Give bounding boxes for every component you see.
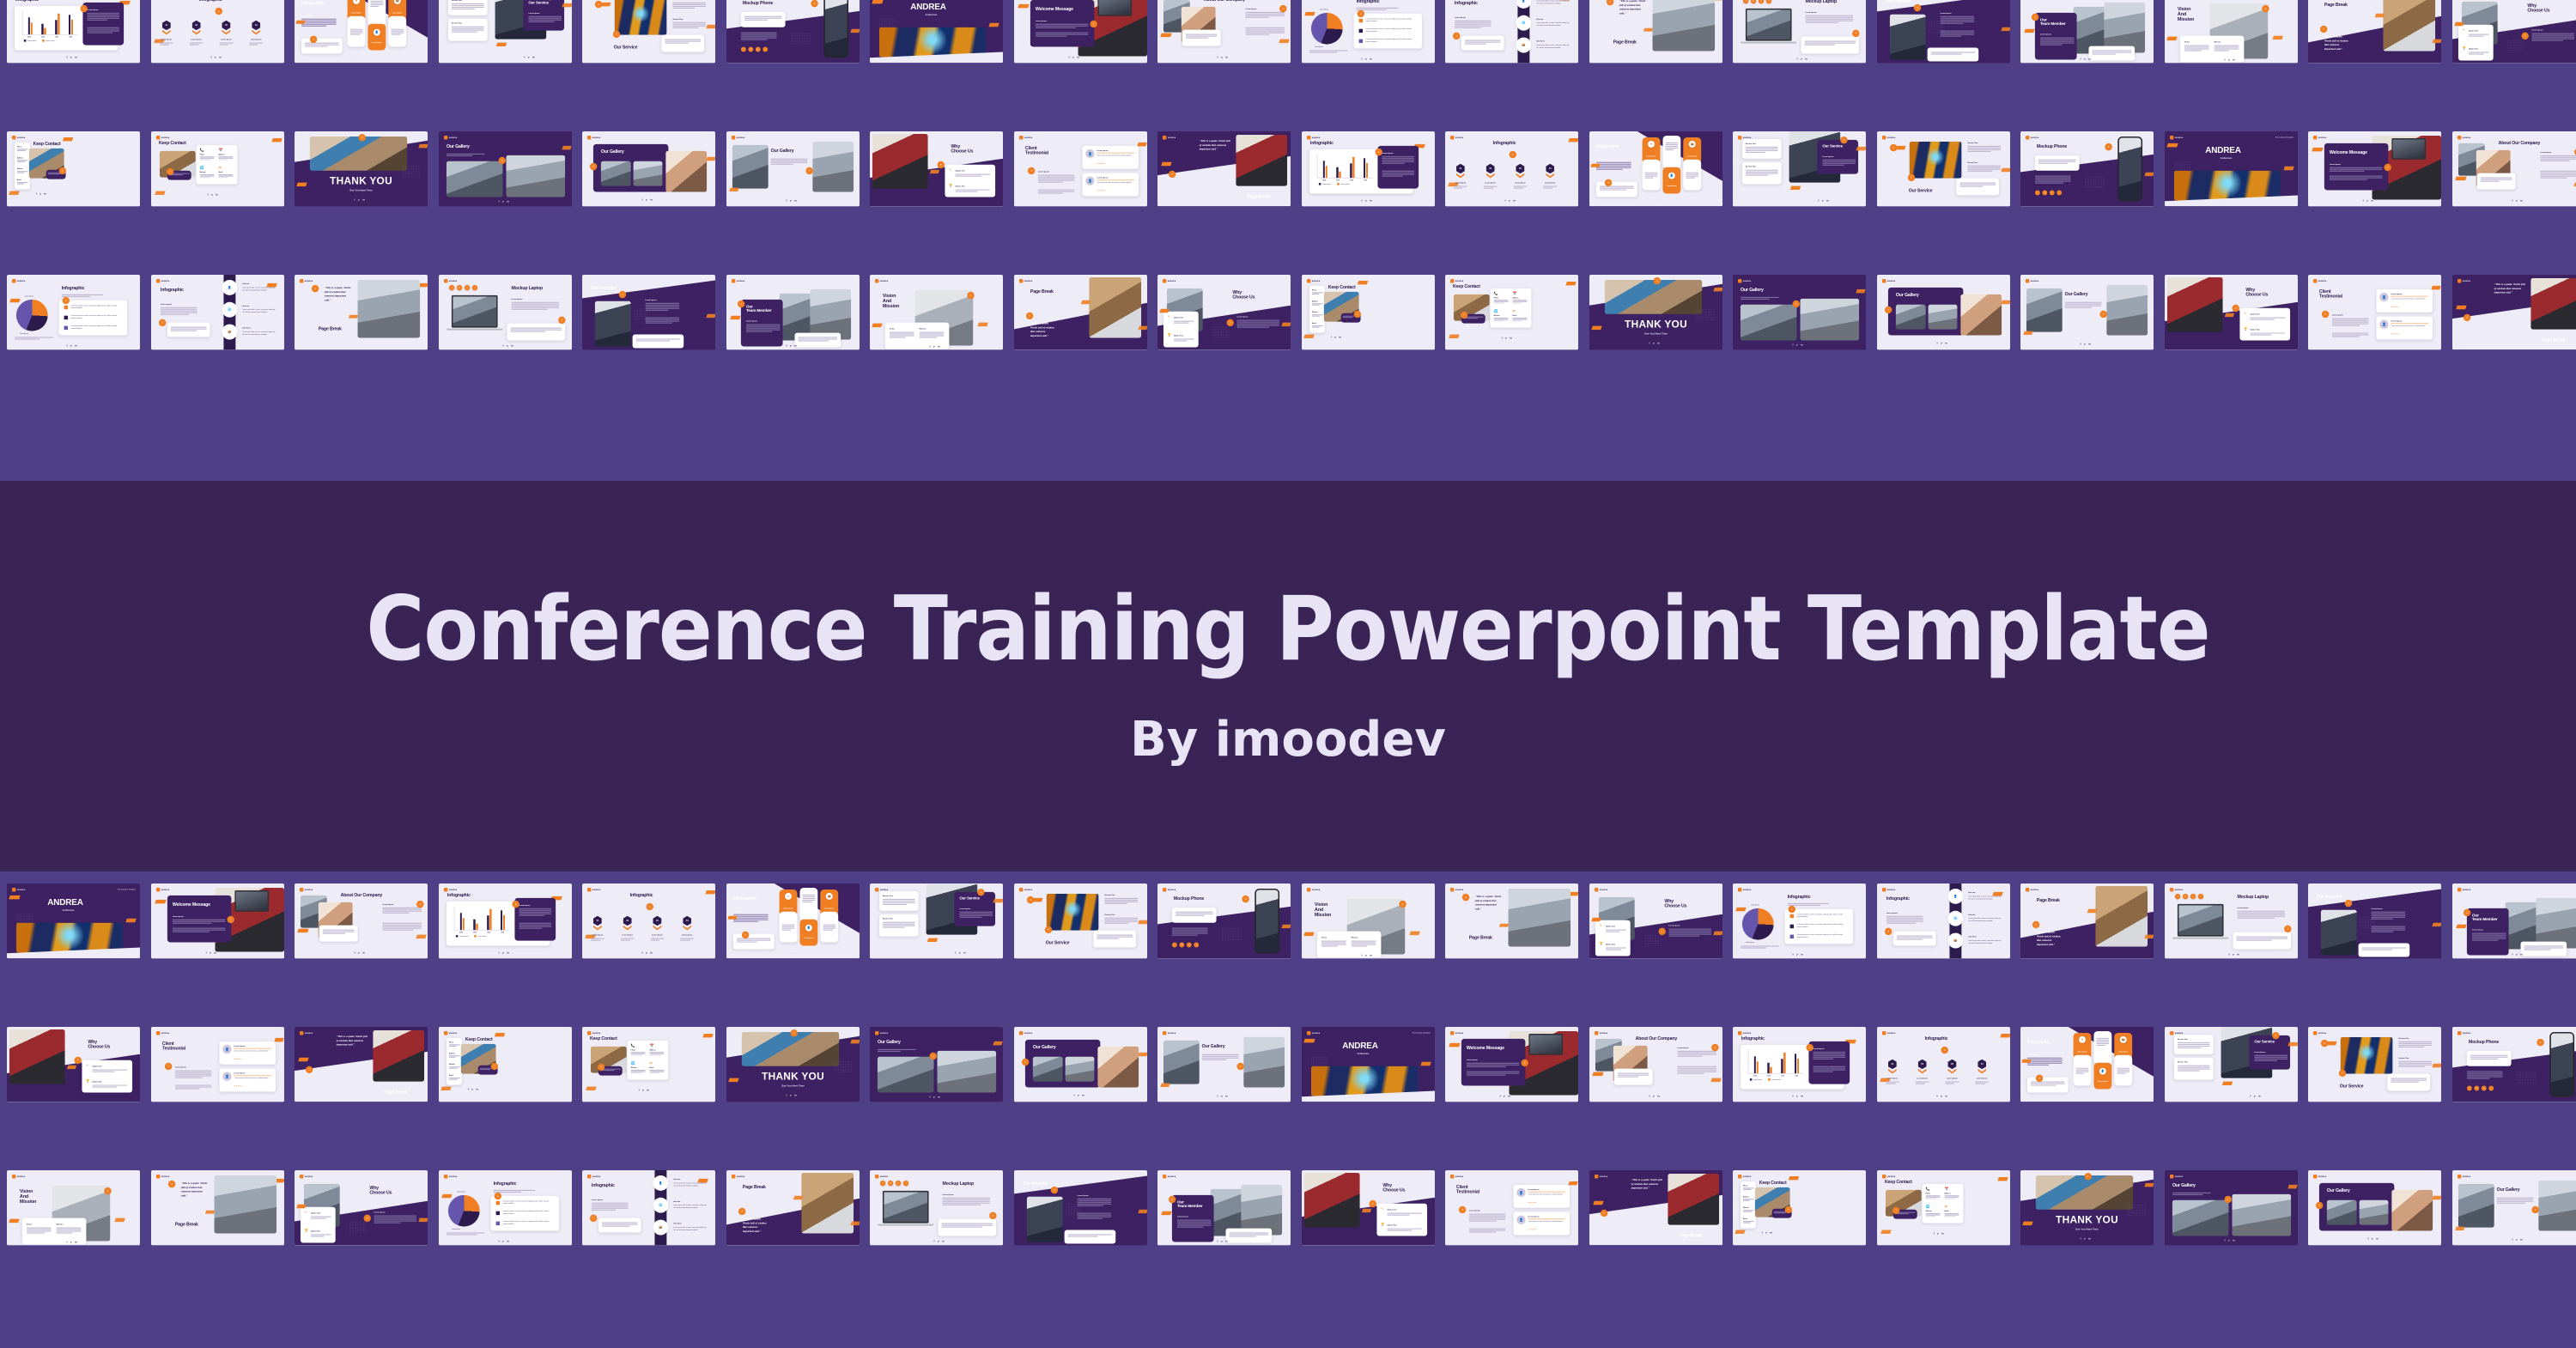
social-links[interactable]: fyin [205,951,216,954]
social-icon[interactable]: f [1505,199,1506,202]
slide-thumbnail[interactable]: ANDREA WhyChoose Us ✎ Option One 🏆 Optio… [7,1027,140,1102]
slide-thank-you[interactable]: ANDREA THANK YOU See You Next Time ‹ fyi… [726,1027,860,1102]
social-icon[interactable]: in [963,951,966,954]
slide-thumbnail[interactable]: ANDREA Welcome Message Lorem Ipsum › fyi… [151,883,284,959]
social-icon[interactable]: i [903,1181,908,1186]
next-arrow-icon[interactable]: › [167,1181,174,1187]
social-icon-row[interactable]: finyi [2035,191,2062,196]
slide-keep-contact-a[interactable]: ANDREA Keep Contact Phone Address Websit… [1733,1170,1866,1245]
social-icon[interactable]: in [2088,343,2091,345]
social-icon[interactable]: f [955,951,956,954]
slide-infographic-steps[interactable]: ANDREA Infographic › 01 Lorem Ipsum 02 L… [582,883,715,958]
social-links[interactable]: fyin [2081,58,2091,60]
slide-thumbnail[interactable]: ANDREA Keep Contact 📞 Phone 📅 Address 🌐 … [582,1027,715,1102]
social-icon-row[interactable]: finyi [1743,0,1771,3]
slide-thumbnail[interactable]: ANDREA Mockup Phone › finyi fyin [726,0,860,64]
next-arrow-icon[interactable]: › [63,297,70,304]
social-icon[interactable]: f [2174,894,2179,899]
social-icon[interactable]: in [794,951,797,954]
slide-welcome-message[interactable]: ANDREA Welcome Message Lorem Ipsum › fyi… [1014,0,1147,63]
social-links[interactable]: fyin [498,200,508,203]
social-links[interactable]: fyin [467,1089,477,1091]
social-links[interactable]: fyin [207,194,217,197]
social-icon[interactable]: in [1657,342,1660,344]
social-links[interactable]: fyin [1933,1233,1943,1236]
social-icon[interactable]: y [70,951,71,954]
social-links[interactable]: fyin [639,1090,649,1092]
next-arrow-icon[interactable]: › [930,1053,937,1060]
next-arrow-icon[interactable]: › [104,1187,111,1194]
next-arrow-icon[interactable]: › [1453,33,1460,39]
social-icon[interactable]: y [2084,1095,2086,1097]
slide-thumbnail[interactable]: ANDREA Welcome Message Lorem Ipsum › fyi… [1445,1027,1578,1102]
slide-thumbnail[interactable]: ANDREA Our Gallery › fyin [2020,275,2154,350]
slide-page-break-image[interactable]: ANDREA Page Break "This is a quote. Word… [2020,883,2154,958]
social-icon[interactable]: in [2042,191,2047,196]
slide-thumbnail[interactable]: ANDREA OurTeam Member Lorem Ipsum › fyin [2020,0,2154,64]
social-links[interactable]: fyin [1218,1095,1228,1097]
social-icon[interactable]: y [1221,1095,1223,1097]
social-icon[interactable]: y [2228,58,2230,61]
slide-client-testimonial[interactable]: ANDREA ClientTestimonial Lorem Ipsum › 👤… [2308,275,2441,349]
slide-thumbnail[interactable]: ANDREA Our Gallery › fyin [1877,275,2010,350]
social-icon[interactable]: in [1770,1232,1772,1235]
next-arrow-icon[interactable]: › [1279,5,1286,12]
social-links[interactable]: fyin [1360,1095,1370,1097]
next-arrow-icon[interactable]: › [1521,1060,1528,1066]
social-links[interactable]: fyin [1068,56,1078,58]
slide-thumbnail[interactable]: ANDREA Our Gallery › fyin [1733,275,1866,350]
next-arrow-icon[interactable]: › [738,1208,744,1215]
slide-thumbnail[interactable]: ANDREA Service One Service Two Our Servi… [1733,131,1866,207]
social-links[interactable]: fyin [2512,953,2522,956]
social-icon[interactable]: y [642,1090,644,1092]
social-icon[interactable]: y [39,193,41,196]
social-icon[interactable]: y [358,198,360,201]
slide-infographic-icons[interactable]: ANDREA Infographic Lorem Ipsum › 👤 Info … [1877,883,2010,958]
social-icon[interactable]: y [1509,199,1510,202]
slide-mockup-laptop[interactable]: ANDREA Mockup Laptop finyi Lorem Ipsum ›… [870,1170,1003,1245]
social-icon[interactable]: f [934,1240,935,1242]
social-icon[interactable]: in [2114,200,2117,203]
slide-thumbnail[interactable]: ANDREA Infographic Lorem Ipsum › ♥ Lorem… [295,0,428,64]
next-arrow-icon[interactable]: › [2272,1032,2279,1039]
social-icon[interactable]: f [930,345,931,348]
social-icon[interactable]: y [755,47,760,52]
slide-thumbnail[interactable]: ANDREA THANK YOU See You Next Time ‹ fyi… [295,131,428,207]
social-links[interactable]: fyin [2081,343,2091,345]
social-icon[interactable]: in [2233,58,2235,61]
social-links[interactable]: fyin [786,344,796,347]
slide-about-company[interactable]: ANDREA About Our Company Lorem Ipsum › f… [2452,131,2576,206]
social-icon[interactable]: in [507,1240,509,1242]
social-links[interactable]: fyin [2512,199,2522,202]
slide-infographic-pie[interactable]: ANDREA Infographic Lorem Ipsum Lorem Ips… [439,1170,572,1245]
slide-thumbnail[interactable]: ANDREA Our Gallery › fyin [1014,1027,1147,1102]
social-links[interactable]: fyin [36,193,46,196]
slide-thumbnail[interactable]: ANDREA WhyChoose Us Lorem Ipsum ✎ Option… [1157,275,1291,350]
next-arrow-icon[interactable]: › [227,916,234,923]
next-arrow-icon[interactable]: › [2322,311,2329,318]
social-icon[interactable]: f [1502,337,1503,340]
social-icon[interactable]: i [471,285,477,290]
social-icon[interactable]: f [786,199,787,202]
social-icon[interactable]: f [2363,199,2364,202]
social-links[interactable]: fyin [2224,1239,2234,1242]
next-arrow-icon[interactable]: › [2232,305,2239,312]
social-links[interactable]: fyin [355,198,365,201]
next-arrow-icon[interactable]: › [1711,1044,1718,1051]
next-arrow-icon[interactable]: › [2099,311,2106,318]
next-arrow-icon[interactable]: › [512,901,519,908]
social-icon[interactable]: f [67,1241,68,1243]
social-icon[interactable]: f [880,1181,885,1186]
slide-thank-you[interactable]: ANDREA THANK YOU See You Next Time ‹ fyi… [1589,275,1722,349]
social-links[interactable]: fyin [1762,1232,1772,1235]
social-icon[interactable]: in [476,1089,478,1091]
social-links[interactable]: fyin [930,1096,940,1098]
next-arrow-icon[interactable]: › [1169,171,1176,178]
slide-thumbnail[interactable]: ANDREA Infographic Lorem Ipsum › 👤 Info … [582,1170,715,1246]
next-arrow-icon[interactable]: › [805,167,812,174]
slide-thumbnail[interactable]: ANDREA Welcome Message Lorem Ipsum › fyi… [1014,0,1147,64]
social-icon[interactable]: in [2088,1237,2091,1240]
slide-thumbnail[interactable]: ANDREA Service One Service Two Our Servi… [439,0,572,64]
next-arrow-icon[interactable]: › [416,901,423,908]
social-icon[interactable]: y [1365,58,1367,60]
social-icon[interactable]: in [1225,56,1228,58]
social-links[interactable]: fyin [786,951,796,954]
slide-thumbnail[interactable]: ANDREA Presentation Template ANDREA Conf… [1302,1027,1435,1102]
social-links[interactable]: fyin [524,56,534,58]
social-icon[interactable]: in [2520,1238,2523,1241]
social-icon[interactable]: y [70,344,72,347]
social-icon[interactable]: in [1369,1095,1371,1097]
social-icon[interactable]: y [1187,943,1192,948]
social-icon[interactable]: y [1505,337,1507,340]
social-icon[interactable]: in [2545,1096,2548,1098]
slide-thumbnail[interactable]: ANDREA Our Gallery › fyin [439,131,572,207]
social-icon[interactable]: f [355,951,355,954]
next-arrow-icon[interactable]: › [306,1066,313,1073]
social-icon[interactable]: in [216,194,218,197]
slide-team-member[interactable]: ANDREA OurTeam Member Lorem Ipsum › fyin [2452,883,2576,958]
social-icon[interactable]: y [2227,199,2229,202]
slide-thumbnail[interactable]: ANDREA OurTeam Member Lorem Ipsum › fyin [1157,1170,1291,1246]
next-arrow-icon[interactable]: › [1090,21,1097,27]
slide-thumbnail[interactable]: ANDREA Keep Contact 📞 Phone 📅 Address 🌐 … [151,131,284,207]
social-icon[interactable]: f [66,951,67,954]
slide-thumbnail[interactable]: ANDREA Service One Service Two Our Servi… [2165,1027,2298,1102]
next-arrow-icon[interactable]: › [989,1212,996,1219]
social-links[interactable]: fyin [355,951,365,954]
slide-thumbnail[interactable]: ANDREA ClientTestimonial Lorem Ipsum › 👤… [1014,131,1147,207]
social-icon[interactable]: in [1657,199,1660,202]
social-icon[interactable]: f [2512,953,2512,956]
slide-why-choose-us-b[interactable]: ANDREA WhyChoose Us ✎ Option One 🏆 Optio… [870,131,1003,206]
social-icon[interactable]: in [362,951,365,954]
slide-infographic-icons[interactable]: ANDREA Infographic Lorem Ipsum › 👤 Info … [1445,0,1578,63]
slide-client-testimonial[interactable]: ANDREA ClientTestimonial Lorem Ipsum › 👤… [151,1027,284,1102]
social-icon[interactable]: y [1937,1233,1939,1236]
slide-our-gallery-c[interactable]: ANDREA Our Gallery › fyin [726,131,860,206]
social-icon[interactable]: f [1649,199,1649,202]
social-icon[interactable]: y [1365,954,1367,956]
social-icon[interactable]: f [786,344,787,347]
social-icon[interactable]: f [498,200,499,203]
social-icon[interactable]: f [1793,953,1794,956]
slide-infographic-bar[interactable]: ANDREA Infographic 2018201920202021 Lore… [1302,131,1435,206]
slide-thumbnail[interactable]: ANDREA Keep Contact 📞 Phone 📅 Address 🌐 … [1445,275,1578,350]
social-icon[interactable]: in [44,193,46,196]
social-icon[interactable]: in [214,951,216,954]
next-arrow-icon[interactable]: › [1462,894,1469,901]
social-icon[interactable]: y [2372,1237,2373,1240]
slide-thumbnail[interactable]: ANDREA "This is a quote. Words full of w… [1589,0,1722,64]
social-icon[interactable]: f [2250,1095,2251,1097]
next-arrow-icon[interactable]: › [977,889,984,896]
slide-our-gallery-b[interactable]: ANDREA Our Gallery › fyin [2308,1170,2441,1245]
social-icon[interactable]: y [933,56,934,58]
social-icon[interactable]: y [2110,200,2111,203]
social-icon[interactable]: y [2481,1086,2486,1091]
slide-the-founder[interactable]: ANDREA The Founder Lorem Ipsum › [582,275,715,349]
social-links[interactable]: fyin [66,951,76,954]
slide-infographic-icons[interactable]: ANDREA Infographic Lorem Ipsum › 👤 Info … [151,275,284,349]
slide-welcome-message[interactable]: ANDREA Welcome Message Lorem Ipsum › fyi… [2308,131,2441,206]
slide-our-service-photo[interactable]: ANDREA Service One Service Two Our Servi… [582,0,715,63]
slide-thumbnail[interactable]: ANDREA Presentation Template ANDREA Conf… [870,0,1003,64]
social-icon[interactable]: in [748,47,753,52]
social-icon[interactable]: y [938,1240,939,1242]
slide-keep-contact-a[interactable]: ANDREA Keep Contact Phone Address Websit… [1302,275,1435,349]
slide-mockup-laptop[interactable]: ANDREA Mockup Laptop finyi Lorem Ipsum ›… [439,275,572,349]
slide-andrea-title[interactable]: ANDREA Presentation Template ANDREA Conf… [1302,1027,1435,1102]
social-links[interactable]: fyin [955,951,965,954]
slide-thumbnail[interactable]: ANDREA WhyChoose Us ✎ Option One 🏆 Optio… [870,131,1003,207]
slide-about-company[interactable]: ANDREA About Our Company Lorem Ipsum › f… [1157,0,1291,63]
slide-thumbnail[interactable]: ANDREA Mockup Phone › finyi fyin [2020,131,2154,207]
social-icon[interactable]: y [1822,199,1824,202]
slide-thumbnail[interactable]: ANDREA VisionAndMission Vision Mission ›… [7,1170,140,1246]
slide-keep-contact-b[interactable]: ANDREA Keep Contact 📞 Phone 📅 Address 🌐 … [582,1027,715,1102]
social-icon[interactable]: in [1339,337,1341,339]
next-arrow-icon[interactable]: › [590,1215,597,1222]
social-icon[interactable]: y [1653,342,1655,344]
social-links[interactable]: fyin [1797,58,1807,60]
next-arrow-icon[interactable]: › [2320,26,2327,33]
next-arrow-icon[interactable]: › [2036,1075,2043,1082]
next-arrow-icon[interactable]: › [2321,1040,2328,1047]
social-icon[interactable]: y [2228,1239,2230,1242]
next-arrow-icon[interactable]: › [310,36,317,43]
social-links[interactable]: fyin [786,199,796,202]
slide-our-gallery-c[interactable]: ANDREA Our Gallery › fyin [2452,1170,2576,1245]
next-arrow-icon[interactable]: › [1852,30,1859,37]
social-icon-row[interactable]: finyi [880,1181,908,1186]
social-icon[interactable]: in [2257,1095,2260,1097]
social-icon[interactable]: in [511,344,513,347]
social-links[interactable]: fyin [930,345,940,348]
next-arrow-icon[interactable]: › [1027,167,1034,174]
social-icon[interactable]: in [75,56,77,58]
social-links[interactable]: fyin [1361,199,1371,202]
slide-client-testimonial[interactable]: ANDREA ClientTestimonial Lorem Ipsum › 👤… [1445,1170,1578,1245]
social-links[interactable]: fyin [67,1241,77,1243]
next-arrow-icon[interactable]: › [1941,1047,1947,1054]
slide-thumbnail[interactable]: ANDREA WhyChoose Us ✎ Option One 🏆 Optio… [1302,1170,1435,1246]
slide-thumbnail[interactable]: ANDREA Page Break "This is a quote. Word… [726,1170,860,1246]
slide-page-break-image[interactable]: ANDREA Page Break "This is a quote. Word… [1014,275,1147,349]
social-icon[interactable]: y [790,199,792,202]
slide-thumbnail[interactable]: ANDREA Infographic Lorem Ipsum › 👤 Info … [1877,883,2010,959]
slide-thumbnail[interactable]: ANDREA Page Break "This is a quote. Word… [2020,883,2154,959]
slide-thumbnail[interactable]: ANDREA WhyChoose Us Lorem Ipsum ✎ Option… [1589,883,1722,959]
social-icon[interactable]: in [819,57,822,59]
social-icon[interactable]: in [1370,954,1372,956]
prev-arrow-icon[interactable]: ‹ [1653,277,1660,284]
social-links[interactable]: fyin [1649,199,1659,202]
social-icon[interactable]: f [1649,342,1649,344]
social-icon[interactable]: in [1508,1095,1510,1097]
social-icon[interactable]: f [1068,56,1069,58]
slide-thumbnail[interactable]: ANDREA "This is a quote. Words full of w… [295,275,428,350]
slide-mockup-phone[interactable]: ANDREA Mockup Phone › finyi fyin [2020,131,2154,206]
slide-the-founder[interactable]: ANDREA The Founder Lorem Ipsum › [1014,1170,1147,1245]
social-links[interactable]: fyin [1649,342,1659,344]
slide-thumbnail[interactable]: ANDREA The Founder Lorem Ipsum › [2308,883,2441,959]
social-icon[interactable]: f [929,56,930,58]
slide-thumbnail[interactable]: ANDREA THANK YOU See You Next Time ‹ fyi… [2020,1170,2154,1246]
slide-thumbnail[interactable]: ANDREA The Founder Lorem Ipsum › [1877,0,2010,64]
social-icon[interactable]: f [1649,1095,1649,1097]
social-icon[interactable]: in [1077,56,1079,58]
slide-thumbnail[interactable]: ANDREA Welcome Message Lorem Ipsum › fyi… [2308,131,2441,207]
slide-thumbnail[interactable]: ANDREA Presentation Template ANDREA Conf… [7,883,140,959]
next-arrow-icon[interactable]: › [1242,896,1249,902]
next-arrow-icon[interactable]: › [647,903,653,910]
slide-thumbnail[interactable]: ANDREA WhyChoose Us Lorem Ipsum ✎ Option… [295,1170,428,1246]
slide-infographic-bar[interactable]: ANDREA Infographic 2018201920202021 Lore… [439,883,572,958]
social-icon[interactable]: y [1504,1095,1505,1097]
next-arrow-icon[interactable]: › [2463,314,2470,321]
next-arrow-icon[interactable]: › [2262,5,2269,12]
slide-thumbnail[interactable]: ANDREA Infographic Lorem Ipsum › ♥ Lorem… [2020,1027,2154,1102]
slide-vision-mission[interactable]: ANDREA VisionAndMission Vision Mission ›… [870,275,1003,349]
social-icon[interactable]: in [532,56,534,58]
social-links[interactable]: fyin [67,344,77,347]
slide-infographic-cards[interactable]: ANDREA Infographic Lorem Ipsum › ♥ Lorem… [726,883,860,958]
slide-our-gallery-b[interactable]: ANDREA Our Gallery › fyin [582,131,715,206]
slide-thumbnail[interactable]: ANDREA VisionAndMission Vision Mission ›… [1302,883,1435,959]
slide-why-choose-us-b[interactable]: ANDREA WhyChoose Us ✎ Option One 🏆 Optio… [2165,275,2298,349]
slide-thumbnail[interactable]: ANDREA About Our Company Lorem Ipsum › f… [1589,1027,1722,1102]
social-links[interactable]: fyin [1793,1095,1803,1097]
social-icon[interactable]: f [67,344,68,347]
social-links[interactable]: fyin [811,57,822,59]
social-icon[interactable]: y [1365,199,1367,202]
social-icon[interactable]: y [646,198,647,201]
social-icon[interactable]: y [1759,0,1764,3]
social-icon[interactable]: y [527,56,529,58]
slide-thumbnail[interactable]: ANDREA Keep Contact Phone Address Websit… [1302,275,1435,350]
slide-mockup-phone[interactable]: ANDREA Mockup Phone › finyi fyin [726,0,860,63]
social-icon[interactable]: y [2190,894,2195,899]
social-icon[interactable]: y [502,200,504,203]
next-arrow-icon[interactable]: › [490,1063,497,1070]
slide-thumbnail[interactable]: ANDREA WhyChoose Us Lorem Ipsum ✎ Option… [2452,0,2576,64]
next-arrow-icon[interactable]: › [595,1,602,8]
slide-why-choose-us[interactable]: ANDREA WhyChoose Us Lorem Ipsum ✎ Option… [1589,883,1722,958]
social-icon[interactable]: in [1805,58,1807,60]
social-icon[interactable]: f [2512,199,2512,202]
slide-keep-contact-b[interactable]: ANDREA Keep Contact 📞 Phone 📅 Address 🌐 … [151,131,284,206]
next-arrow-icon[interactable]: › [619,291,626,298]
social-links[interactable]: fyin [1936,1095,1947,1097]
slide-thumbnail[interactable]: ANDREA Mockup Laptop finyi Lorem Ipsum ›… [439,275,572,350]
slide-thumbnail[interactable]: ANDREA WhyChoose Us ✎ Option One 🏆 Optio… [2165,275,2298,350]
social-icon-row[interactable]: finyi [1172,943,1199,948]
social-icon[interactable]: in [456,285,461,290]
social-icon[interactable]: in [888,1181,893,1186]
social-icon[interactable]: in [219,56,222,58]
social-icon[interactable]: y [790,951,792,954]
slide-our-service-photo[interactable]: ANDREA Service One Service Two Our Servi… [2308,1027,2441,1102]
social-icon[interactable]: f [1793,1095,1794,1097]
social-icon[interactable]: y [959,951,961,954]
social-links[interactable]: fyin [786,1094,796,1096]
social-icon-row[interactable]: finyi [448,285,477,290]
next-arrow-icon[interactable]: › [312,285,319,292]
social-icon[interactable]: y [502,951,504,954]
slide-thumbnail[interactable]: ANDREA ClientTestimonial Lorem Ipsum › 👤… [1445,1170,1578,1246]
next-arrow-icon[interactable]: › [1884,307,1891,313]
social-icon[interactable]: y [896,1181,901,1186]
social-links[interactable]: fyin [2223,199,2233,202]
social-icon[interactable]: in [1225,1095,1228,1097]
social-icon[interactable]: in [1513,199,1516,202]
social-icon[interactable]: in [1657,1095,1660,1097]
slide-our-gallery-b[interactable]: ANDREA Our Gallery › fyin [1014,1027,1147,1102]
slide-vision-mission[interactable]: ANDREA VisionAndMission Vision Mission ›… [7,1170,140,1245]
slide-thumbnail[interactable]: ANDREA Service One Service Two Our Servi… [582,0,715,64]
slide-thumbnail[interactable]: ANDREA THANK YOU See You Next Time ‹ fyi… [1589,275,1722,350]
slide-welcome-message[interactable]: ANDREA Welcome Message Lorem Ipsum › fyi… [151,883,284,958]
slide-infographic-cards[interactable]: ANDREA Infographic Lorem Ipsum › ♥ Lorem… [295,0,428,63]
social-icon[interactable]: in [650,198,653,201]
social-links[interactable]: fyin [1073,1094,1084,1096]
social-icon[interactable]: in [794,1094,797,1096]
slide-keep-contact-a[interactable]: ANDREA Keep Contact Phone Address Websit… [439,1027,572,1102]
social-icon[interactable]: f [210,56,211,58]
slide-about-company[interactable]: ANDREA About Our Company Lorem Ipsum › f… [295,883,428,958]
slide-thumbnail[interactable]: ANDREA "This is a quote. Words full of w… [1157,131,1291,207]
social-icon[interactable]: f [786,951,787,954]
slide-page-break-quote-dark[interactable]: ANDREA "This is a quote. Words full of w… [1589,1170,1722,1245]
slide-mockup-laptop[interactable]: ANDREA Mockup Laptop finyi Lorem Ipsum ›… [1733,0,1866,63]
social-icon[interactable]: y [502,1240,504,1242]
social-icon[interactable]: in [75,344,77,347]
next-arrow-icon[interactable]: › [1600,1210,1607,1217]
social-icon[interactable]: f [2081,58,2081,60]
slide-welcome-message[interactable]: ANDREA Welcome Message Lorem Ipsum › fyi… [1445,1027,1578,1102]
social-icon[interactable]: f [2105,200,2106,203]
social-icon[interactable]: in [2371,199,2373,202]
social-icon[interactable]: y [358,56,360,58]
social-icon[interactable]: in [1370,58,1372,60]
slide-team-member[interactable]: ANDREA OurTeam Member Lorem Ipsum › fyin [2020,0,2154,63]
slide-keep-contact-a[interactable]: ANDREA Keep Contact Phone Address Websit… [7,131,140,206]
